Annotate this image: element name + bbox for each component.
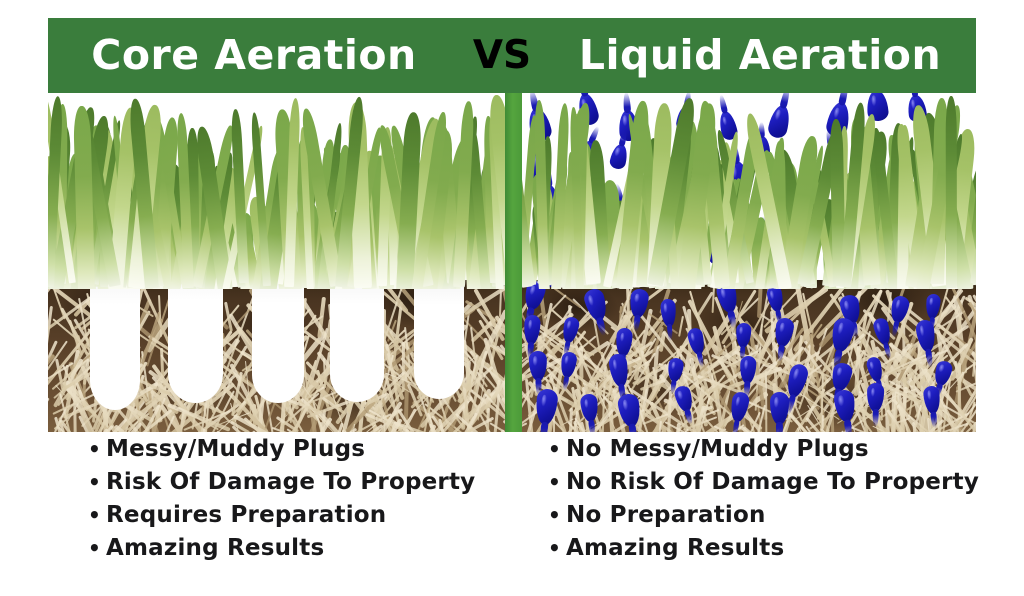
droplet-highlight [838, 395, 845, 407]
droplet-highlight [871, 95, 877, 106]
droplet-highlight [743, 360, 748, 370]
droplet-highlight [721, 116, 727, 127]
droplet-highlight [541, 395, 548, 408]
droplet-highlight [690, 333, 696, 343]
bullet-label: No Preparation [566, 504, 766, 527]
bullet-label: Risk Of Damage To Property [106, 471, 475, 494]
bullet-label: Requires Preparation [106, 504, 386, 527]
droplet-highlight [774, 109, 782, 121]
bullet-label: Amazing Results [566, 537, 784, 560]
droplet-highlight [876, 323, 882, 333]
left-panel-title: Core Aeration [54, 35, 454, 76]
droplet-highlight [622, 400, 629, 412]
droplet-highlight [837, 323, 845, 335]
bullet-marker-icon: • [88, 538, 106, 558]
droplet-highlight [775, 398, 780, 409]
bullet-label: No Risk Of Damage To Property [566, 471, 979, 494]
root-strand [678, 316, 684, 337]
droplet-highlight [919, 325, 925, 336]
core-aeration-photo [48, 93, 505, 432]
bullet-marker-icon: • [548, 439, 566, 459]
liquid-aeration-bullet-item: •No Messy/Muddy Plugs [548, 438, 978, 471]
liquid-aeration-bullet-item: •No Risk Of Damage To Property [548, 471, 978, 504]
infographic-root: Core Aeration VS Liquid Aeration •Messy/… [0, 0, 1024, 596]
grass-layer-left [48, 93, 505, 289]
droplet-highlight [584, 399, 589, 409]
droplet-highlight [895, 300, 901, 310]
grass-blade [946, 96, 957, 288]
droplet-highlight [843, 300, 850, 311]
core-plug-hole [252, 275, 304, 403]
root-strand [48, 397, 50, 432]
bullet-label: Messy/Muddy Plugs [106, 438, 365, 461]
header-bar: Core Aeration VS Liquid Aeration [48, 18, 976, 93]
droplet-highlight [927, 391, 932, 401]
core-aeration-bullet-item: •Amazing Results [88, 537, 508, 570]
bullet-marker-icon: • [88, 505, 106, 525]
bullet-marker-icon: • [548, 538, 566, 558]
droplet-highlight [677, 390, 683, 399]
right-panel-title: Liquid Aeration [550, 35, 970, 76]
liquid-aeration-photo [522, 93, 976, 432]
droplet-highlight [792, 369, 799, 381]
core-aeration-bullet-list: •Messy/Muddy Plugs•Risk Of Damage To Pro… [88, 438, 508, 570]
core-plug-hole [90, 275, 140, 410]
droplet-highlight [615, 147, 621, 156]
droplet-highlight [527, 320, 532, 330]
droplet-highlight [672, 362, 677, 371]
liquid-aeration-bullet-list: •No Messy/Muddy Plugs•No Risk Of Damage … [548, 438, 978, 570]
bullet-label: No Messy/Muddy Plugs [566, 438, 869, 461]
bullet-marker-icon: • [548, 505, 566, 525]
bullet-marker-icon: • [548, 472, 566, 492]
droplet-highlight [664, 303, 668, 313]
core-aeration-bullet-item: •Messy/Muddy Plugs [88, 438, 508, 471]
droplet-highlight [938, 364, 944, 373]
core-plug-hole [168, 271, 223, 403]
bullet-marker-icon: • [88, 472, 106, 492]
root-strand [836, 430, 845, 432]
core-aeration-bullet-item: •Requires Preparation [88, 504, 508, 537]
droplet-highlight [739, 327, 743, 336]
droplet-highlight [612, 359, 618, 371]
droplet-highlight [634, 293, 640, 303]
droplet-highlight [529, 285, 536, 296]
core-plug-hole [414, 279, 464, 399]
vs-label: VS [454, 36, 550, 75]
droplet-highlight [587, 294, 595, 306]
liquid-aeration-bullet-item: •No Preparation [548, 504, 978, 537]
droplet-highlight [833, 106, 841, 119]
photo-band [48, 93, 976, 432]
droplet-highlight [532, 356, 537, 366]
droplet-highlight [779, 322, 785, 332]
liquid-aeration-bullet-item: •Amazing Results [548, 537, 978, 570]
droplet-highlight [836, 367, 843, 377]
core-plug-hole [330, 277, 384, 402]
droplet-highlight [871, 387, 876, 397]
bullet-marker-icon: • [88, 439, 106, 459]
bullet-label: Amazing Results [106, 537, 324, 560]
droplet-highlight [566, 320, 572, 330]
root-strand [402, 342, 405, 392]
root-strand [522, 423, 527, 431]
panel-divider [505, 93, 522, 432]
droplet-highlight [564, 356, 569, 365]
droplet-highlight [720, 288, 727, 299]
droplet-highlight [869, 361, 875, 370]
droplet-highlight [620, 333, 625, 343]
droplet-highlight [735, 396, 741, 407]
root-strand [711, 286, 714, 313]
droplet-highlight [929, 297, 933, 306]
core-aeration-bullet-item: •Risk Of Damage To Property [88, 471, 508, 504]
droplet-highlight [770, 291, 776, 301]
